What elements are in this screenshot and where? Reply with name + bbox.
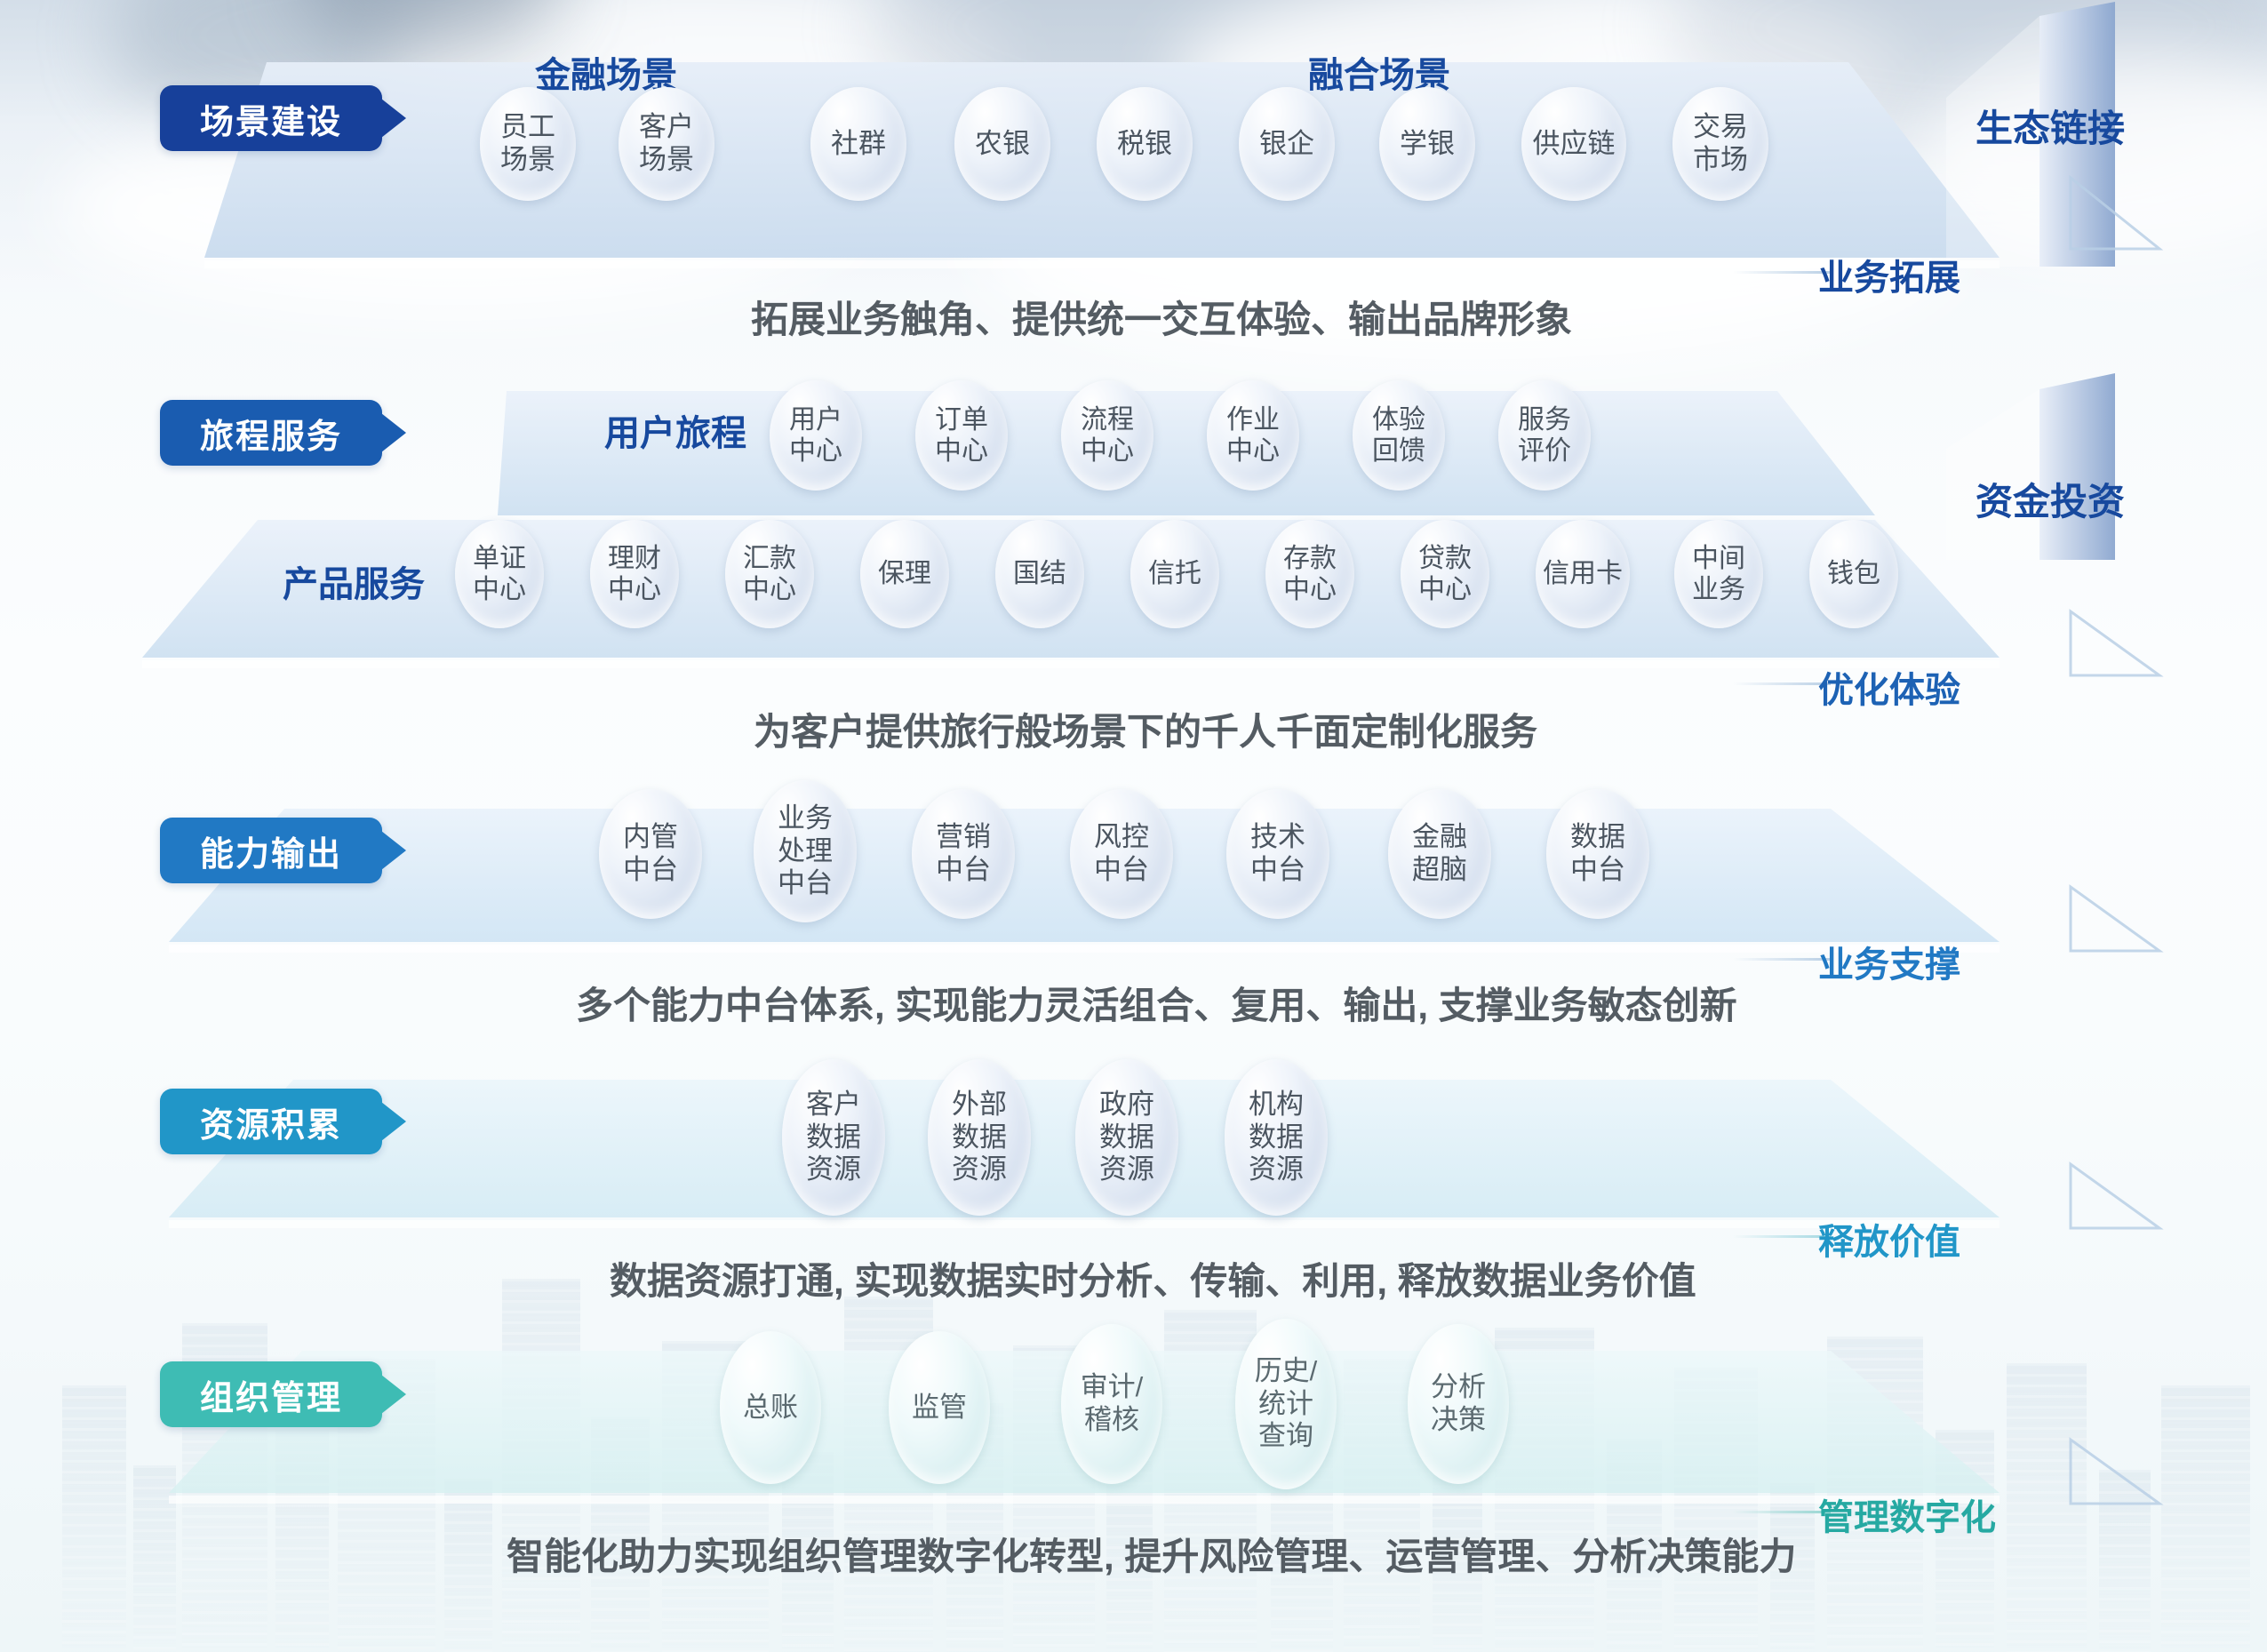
node-label: 保理 bbox=[878, 558, 931, 589]
node-label: 税银 bbox=[1117, 128, 1172, 161]
node-scene-2[interactable]: 社群 bbox=[810, 87, 906, 201]
node-label: 外部数据资源 bbox=[952, 1089, 1007, 1186]
node-label: 风控中台 bbox=[1094, 821, 1149, 886]
node-label: 机构数据资源 bbox=[1249, 1089, 1304, 1186]
tag-label: 资源积累 bbox=[200, 1097, 342, 1146]
tag-pointer bbox=[381, 1375, 406, 1414]
node-label: 学银 bbox=[1400, 128, 1455, 161]
node-capability-4[interactable]: 技术中台 bbox=[1226, 789, 1329, 919]
node-label: 中间业务 bbox=[1692, 543, 1745, 606]
node-organization-0[interactable]: 总账 bbox=[720, 1331, 821, 1484]
node-label: 交易市场 bbox=[1693, 111, 1748, 176]
node-scene-6[interactable]: 学银 bbox=[1379, 87, 1475, 201]
node-label: 营销中台 bbox=[936, 821, 991, 886]
description-organization-management: 智能化助力实现组织管理数字化转型, 提升风险管理、运营管理、分析决策能力 bbox=[507, 1527, 1796, 1581]
node-label: 监管 bbox=[912, 1392, 967, 1425]
tag-scene-construction[interactable]: 场景建设 bbox=[160, 85, 382, 151]
node-journey-5[interactable]: 服务评价 bbox=[1498, 380, 1591, 491]
tag-pointer bbox=[381, 99, 406, 138]
divider-rule-release-value bbox=[1733, 1235, 1831, 1238]
node-product-7[interactable]: 贷款中心 bbox=[1401, 520, 1489, 628]
node-label: 国结 bbox=[1013, 558, 1066, 589]
node-capability-0[interactable]: 内管中台 bbox=[599, 789, 702, 919]
node-label: 业务处理中台 bbox=[778, 802, 833, 900]
node-scene-4[interactable]: 税银 bbox=[1097, 87, 1193, 201]
node-product-2[interactable]: 汇款中心 bbox=[725, 520, 814, 628]
node-product-5[interactable]: 信托 bbox=[1130, 520, 1219, 628]
description-resource-accumulation: 数据资源打通, 实现数据实时分析、传输、利用, 释放数据业务价值 bbox=[610, 1251, 1696, 1305]
node-label: 信用卡 bbox=[1543, 558, 1623, 589]
divider-label-business-expansion: 业务拓展 bbox=[1818, 249, 1960, 300]
divider-label-management-digitalization: 管理数字化 bbox=[1818, 1488, 1996, 1540]
node-scene-1[interactable]: 客户场景 bbox=[619, 87, 714, 201]
description-capability-output: 多个能力中台体系, 实现能力灵活组合、复用、输出, 支撑业务敏态创新 bbox=[576, 976, 1737, 1030]
node-product-1[interactable]: 理财中心 bbox=[590, 520, 679, 628]
node-journey-2[interactable]: 流程中心 bbox=[1061, 380, 1153, 491]
divider-rule-business-support bbox=[1733, 958, 1831, 961]
node-label: 流程中心 bbox=[1081, 404, 1134, 467]
node-label: 供应链 bbox=[1533, 128, 1616, 161]
node-scene-5[interactable]: 银企 bbox=[1239, 87, 1335, 201]
node-product-9[interactable]: 中间业务 bbox=[1674, 520, 1763, 628]
description-journey-service: 为客户提供旅行般场景下的千人千面定制化服务 bbox=[754, 702, 1537, 756]
node-label: 用户中心 bbox=[789, 404, 842, 467]
node-capability-5[interactable]: 金融超脑 bbox=[1388, 789, 1491, 919]
tag-label: 旅程服务 bbox=[200, 409, 342, 458]
divider-rule-business-expansion bbox=[1733, 271, 1831, 274]
node-label: 体验回馈 bbox=[1372, 404, 1425, 467]
node-product-8[interactable]: 信用卡 bbox=[1536, 520, 1630, 628]
tag-pointer bbox=[381, 413, 406, 452]
tag-pointer bbox=[381, 1102, 406, 1141]
node-resource-0[interactable]: 客户数据资源 bbox=[782, 1059, 885, 1216]
architecture-diagram: 场景建设 旅程服务 能力输出 资源积累 组织管理 金融场景 融合场景 用户旅程 … bbox=[0, 0, 2267, 1652]
node-label: 贷款中心 bbox=[1418, 543, 1472, 606]
node-scene-3[interactable]: 农银 bbox=[954, 87, 1050, 201]
node-capability-3[interactable]: 风控中台 bbox=[1070, 789, 1173, 919]
node-label: 汇款中心 bbox=[743, 543, 796, 606]
tag-organization-management[interactable]: 组织管理 bbox=[160, 1361, 382, 1427]
divider-label-release-value: 释放价值 bbox=[1818, 1213, 1960, 1265]
node-label: 分析决策 bbox=[1431, 1371, 1486, 1436]
node-label: 作业中心 bbox=[1226, 404, 1280, 467]
group-label-user-journey: 用户旅程 bbox=[604, 404, 746, 456]
node-scene-0[interactable]: 员工场景 bbox=[480, 87, 576, 201]
side-slab-text: 资金投资 bbox=[1976, 480, 2125, 524]
tag-resource-accumulation[interactable]: 资源积累 bbox=[160, 1089, 382, 1154]
node-resource-2[interactable]: 政府数据资源 bbox=[1075, 1059, 1178, 1216]
node-label: 总账 bbox=[743, 1392, 798, 1425]
node-label: 数据中台 bbox=[1570, 821, 1625, 886]
node-label: 钱包 bbox=[1827, 558, 1880, 589]
node-journey-0[interactable]: 用户中心 bbox=[770, 380, 862, 491]
node-label: 单证中心 bbox=[473, 543, 526, 606]
node-label: 政府数据资源 bbox=[1099, 1089, 1154, 1186]
node-organization-2[interactable]: 审计/稽核 bbox=[1061, 1324, 1162, 1484]
node-resource-1[interactable]: 外部数据资源 bbox=[928, 1059, 1031, 1216]
description-scene-construction: 拓展业务触角、提供统一交互体验、输出品牌形象 bbox=[751, 290, 1572, 344]
side-slab-ecology-link: 生态链接 bbox=[1984, 71, 2117, 187]
node-label: 理财中心 bbox=[608, 543, 661, 606]
tag-capability-output[interactable]: 能力输出 bbox=[160, 818, 382, 883]
node-capability-1[interactable]: 业务处理中台 bbox=[754, 780, 857, 922]
node-label: 员工场景 bbox=[500, 111, 555, 176]
node-product-10[interactable]: 钱包 bbox=[1809, 520, 1898, 628]
node-journey-3[interactable]: 作业中心 bbox=[1207, 380, 1299, 491]
node-label: 社群 bbox=[831, 128, 886, 161]
node-label: 客户数据资源 bbox=[806, 1089, 861, 1186]
node-label: 存款中心 bbox=[1283, 543, 1337, 606]
side-slab-text: 生态链接 bbox=[1976, 107, 2125, 151]
node-label: 审计/稽核 bbox=[1081, 1371, 1144, 1436]
tag-journey-service[interactable]: 旅程服务 bbox=[160, 400, 382, 466]
node-label: 订单中心 bbox=[935, 404, 988, 467]
node-journey-4[interactable]: 体验回馈 bbox=[1353, 380, 1445, 491]
node-label: 银企 bbox=[1259, 128, 1314, 161]
node-product-0[interactable]: 单证中心 bbox=[455, 520, 544, 628]
divider-label-optimize-experience: 优化体验 bbox=[1818, 661, 1960, 713]
node-label: 金融超脑 bbox=[1412, 821, 1467, 886]
tag-pointer bbox=[381, 831, 406, 870]
node-organization-4[interactable]: 分析决策 bbox=[1408, 1324, 1509, 1484]
node-capability-6[interactable]: 数据中台 bbox=[1546, 789, 1649, 919]
node-product-6[interactable]: 存款中心 bbox=[1265, 520, 1354, 628]
node-journey-1[interactable]: 订单中心 bbox=[915, 380, 1008, 491]
node-label: 历史/统计查询 bbox=[1255, 1355, 1318, 1453]
side-slab-capital-investment: 资金投资 bbox=[1984, 444, 2117, 560]
node-organization-3[interactable]: 历史/统计查询 bbox=[1235, 1319, 1337, 1489]
divider-rule-management-digitalization bbox=[1733, 1511, 1831, 1513]
node-label: 客户场景 bbox=[639, 111, 694, 176]
tag-label: 场景建设 bbox=[200, 94, 342, 143]
node-product-3[interactable]: 保理 bbox=[860, 520, 949, 628]
node-product-4[interactable]: 国结 bbox=[995, 520, 1084, 628]
node-scene-8[interactable]: 交易市场 bbox=[1672, 87, 1768, 201]
node-capability-2[interactable]: 营销中台 bbox=[912, 789, 1015, 919]
node-label: 内管中台 bbox=[623, 821, 678, 886]
node-label: 信托 bbox=[1148, 558, 1201, 589]
node-scene-7[interactable]: 供应链 bbox=[1521, 87, 1626, 201]
divider-label-business-support: 业务支撑 bbox=[1818, 936, 1960, 987]
node-label: 技术中台 bbox=[1250, 821, 1305, 886]
divider-rule-optimize-experience bbox=[1733, 682, 1831, 685]
node-organization-1[interactable]: 监管 bbox=[889, 1331, 990, 1484]
node-label: 农银 bbox=[975, 128, 1030, 161]
tag-label: 组织管理 bbox=[200, 1370, 342, 1419]
tag-label: 能力输出 bbox=[200, 826, 342, 875]
group-label-product-service: 产品服务 bbox=[283, 555, 425, 607]
node-label: 服务评价 bbox=[1518, 404, 1571, 467]
node-resource-3[interactable]: 机构数据资源 bbox=[1225, 1059, 1328, 1216]
